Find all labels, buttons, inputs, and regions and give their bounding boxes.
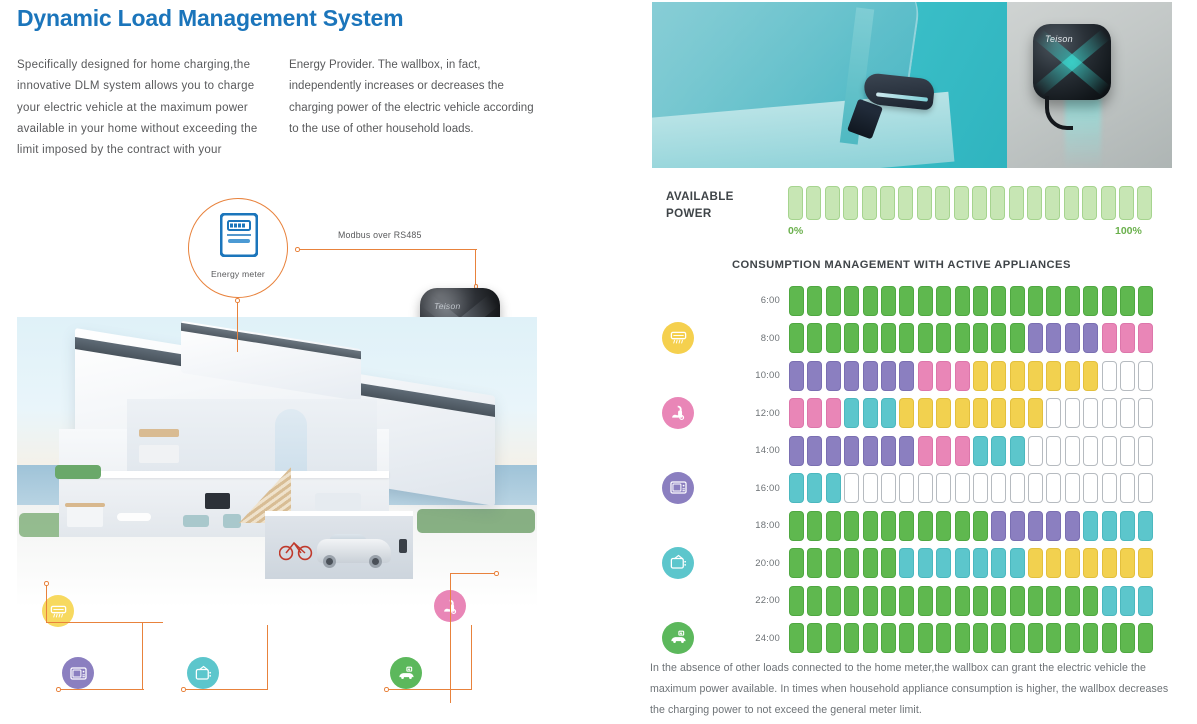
chart-cell-purple xyxy=(1065,323,1080,353)
kitchen-counter xyxy=(65,503,105,507)
chart-cell-cyan xyxy=(899,548,914,578)
chart-cell-green xyxy=(973,586,988,616)
connector-dot xyxy=(384,687,389,692)
chart-cell-green xyxy=(1046,586,1061,616)
chart-cell-green xyxy=(863,323,878,353)
chart-cell-purple xyxy=(826,361,841,391)
chart-cell-cyan xyxy=(1010,548,1025,578)
chart-cell-empty xyxy=(1138,398,1153,428)
chart-cell-empty xyxy=(1083,398,1098,428)
chart-cell-cyan xyxy=(863,398,878,428)
chart-cell-purple xyxy=(1010,511,1025,541)
system-diagram: Energy meter Modbus over RS485 Teison xyxy=(0,185,640,724)
connector-dot xyxy=(56,687,61,692)
chart-row: 6:00 xyxy=(648,282,1197,320)
chart-row-cells xyxy=(789,398,1153,428)
chart-cell-green xyxy=(826,548,841,578)
chart-cell-empty xyxy=(899,473,914,503)
chart-cell-green xyxy=(807,286,822,316)
chart-cell-green xyxy=(973,623,988,653)
available-power-segment xyxy=(1101,186,1116,220)
available-power-label-line2: POWER xyxy=(666,206,734,223)
chart-cell-green xyxy=(973,511,988,541)
chart-cell-green xyxy=(936,511,951,541)
available-power-segment xyxy=(825,186,840,220)
chart-cell-pink xyxy=(936,361,951,391)
chart-cell-green xyxy=(826,286,841,316)
chart-cell-cyan xyxy=(1120,586,1135,616)
connector-line xyxy=(183,689,268,690)
chart-cell-yellow xyxy=(1065,548,1080,578)
chart-cell-yellow xyxy=(1010,361,1025,391)
chart-cell-empty xyxy=(1102,361,1117,391)
roof-planter xyxy=(55,465,101,479)
available-power-segment xyxy=(1027,186,1042,220)
chart-cell-green xyxy=(844,548,859,578)
chart-cell-cyan xyxy=(1102,586,1117,616)
modbus-connection-label: Modbus over RS485 xyxy=(338,230,422,240)
connector-dot xyxy=(235,298,240,303)
legend-badge-electric-vehicle[interactable] xyxy=(662,622,694,654)
chart-cell-green xyxy=(844,623,859,653)
chart-row-time-label: 14:00 xyxy=(720,445,780,456)
chart-cell-empty xyxy=(1102,398,1117,428)
chart-cell-green xyxy=(1102,623,1117,653)
chart-cell-green xyxy=(789,623,804,653)
available-power-segment xyxy=(1137,186,1152,220)
chart-cell-green xyxy=(973,286,988,316)
chart-cell-empty xyxy=(863,473,878,503)
garage-wallbox xyxy=(399,539,407,553)
energy-meter-icon xyxy=(220,213,258,257)
chart-cell-green xyxy=(789,323,804,353)
chart-cell-empty xyxy=(1083,473,1098,503)
chart-cell-green xyxy=(1138,286,1153,316)
chart-cell-green xyxy=(826,623,841,653)
chart-cell-yellow xyxy=(955,398,970,428)
air-conditioner-icon xyxy=(49,602,68,621)
chart-cell-empty xyxy=(1065,398,1080,428)
badge-microwave-oven[interactable] xyxy=(62,657,94,689)
chart-cell-pink xyxy=(918,436,933,466)
chart-row-cells xyxy=(789,586,1153,616)
chart-cell-green xyxy=(1010,623,1025,653)
chart-cell-green xyxy=(844,586,859,616)
available-power-segment xyxy=(1045,186,1060,220)
chart-cell-green xyxy=(881,548,896,578)
chart-cell-pink xyxy=(1138,323,1153,353)
chart-row-cells xyxy=(789,323,1153,353)
chart-cell-empty xyxy=(918,473,933,503)
modbus-connector-line xyxy=(297,249,477,250)
chart-cell-cyan xyxy=(826,473,841,503)
chart-cell-yellow xyxy=(1083,361,1098,391)
dining-table xyxy=(117,513,151,521)
chart-cell-cyan xyxy=(1010,436,1025,466)
chart-row-cells xyxy=(789,436,1153,466)
sofa xyxy=(183,515,209,527)
chart-cell-yellow xyxy=(1028,361,1043,391)
legend-badge-television[interactable] xyxy=(662,547,694,579)
chart-cell-green xyxy=(991,623,1006,653)
chart-cell-green xyxy=(1010,286,1025,316)
wallbox-brand-label: Teison xyxy=(1045,34,1073,44)
chart-cell-purple xyxy=(991,511,1006,541)
chart-cell-green xyxy=(1065,623,1080,653)
chart-cell-green xyxy=(863,586,878,616)
connector-line xyxy=(142,622,143,690)
badge-television[interactable] xyxy=(187,657,219,689)
chart-cell-purple xyxy=(1028,323,1043,353)
chart-cell-pink xyxy=(936,436,951,466)
chart-cell-empty xyxy=(1065,473,1080,503)
chart-cell-cyan xyxy=(973,548,988,578)
chart-row-time-label: 8:00 xyxy=(720,333,780,344)
chart-cell-green xyxy=(936,323,951,353)
chart-cell-pink xyxy=(826,398,841,428)
chart-cell-pink xyxy=(918,361,933,391)
chart-cell-green xyxy=(918,286,933,316)
connector-line xyxy=(386,689,472,690)
chart-cell-green xyxy=(936,586,951,616)
available-power-label-line1: AVAILABLE xyxy=(666,189,734,206)
consumption-chart: 6:008:0010:0012:0014:0016:0018:0020:0022… xyxy=(648,282,1197,657)
available-power-max-label: 100% xyxy=(1115,225,1142,237)
chart-cell-green xyxy=(973,323,988,353)
chart-row-cells xyxy=(789,361,1153,391)
chart-cell-empty xyxy=(1028,436,1043,466)
chart-cell-purple xyxy=(1083,323,1098,353)
available-power-segment xyxy=(806,186,821,220)
chart-row: 24:00 xyxy=(648,620,1197,658)
chart-cell-purple xyxy=(881,361,896,391)
available-power-segment xyxy=(1064,186,1079,220)
chart-cell-yellow xyxy=(1120,548,1135,578)
charging-cable xyxy=(1045,96,1073,130)
electric-car-icon xyxy=(397,664,416,683)
chart-cell-cyan xyxy=(1083,511,1098,541)
available-power-segment xyxy=(1119,186,1134,220)
chart-cell-green xyxy=(807,623,822,653)
intro-paragraph-left: Specifically designed for home charging,… xyxy=(17,55,279,161)
chart-cell-purple xyxy=(844,361,859,391)
connector-line xyxy=(58,689,144,690)
chart-cell-green xyxy=(991,286,1006,316)
connector-line xyxy=(237,300,238,352)
chart-cell-green xyxy=(955,586,970,616)
chart-cell-purple xyxy=(1065,511,1080,541)
badge-electric-vehicle[interactable] xyxy=(390,657,422,689)
chart-cell-green xyxy=(899,623,914,653)
chart-cell-green xyxy=(1010,586,1025,616)
chart-cell-green xyxy=(1102,286,1117,316)
modbus-connector-line-vertical xyxy=(475,249,476,287)
chart-row: 20:00 xyxy=(648,545,1197,583)
available-power-segment xyxy=(862,186,877,220)
chart-row-time-label: 10:00 xyxy=(720,370,780,381)
chart-cell-empty xyxy=(1065,436,1080,466)
chart-cell-pink xyxy=(807,398,822,428)
available-power-min-label: 0% xyxy=(788,225,803,237)
chart-cell-cyan xyxy=(955,548,970,578)
chart-cell-empty xyxy=(1046,473,1061,503)
chart-row: 12:00 xyxy=(648,395,1197,433)
chart-cell-empty xyxy=(936,473,951,503)
chart-row-time-label: 22:00 xyxy=(720,595,780,606)
chart-row-cells xyxy=(789,548,1153,578)
chart-cell-yellow xyxy=(1102,548,1117,578)
chart-cell-cyan xyxy=(918,548,933,578)
chart-cell-yellow xyxy=(936,398,951,428)
chart-cell-green xyxy=(955,623,970,653)
connector-line xyxy=(450,573,496,574)
bunk-bed-frame xyxy=(139,429,179,437)
connector-dot xyxy=(295,247,300,252)
chart-cell-green xyxy=(918,323,933,353)
chart-cell-green xyxy=(1028,586,1043,616)
available-power-segment xyxy=(935,186,950,220)
chart-cell-green xyxy=(1083,286,1098,316)
chart-row-cells xyxy=(789,511,1153,541)
chart-row-time-label: 12:00 xyxy=(720,408,780,419)
chart-cell-green xyxy=(1065,586,1080,616)
chart-cell-green xyxy=(863,548,878,578)
kitchen-cabinets xyxy=(67,505,103,527)
chart-cell-cyan xyxy=(1102,511,1117,541)
car-wheel xyxy=(369,555,382,568)
chart-cell-green xyxy=(1046,623,1061,653)
chart-cell-empty xyxy=(1102,436,1117,466)
chart-cell-green xyxy=(918,511,933,541)
legend-badge-vacuum-cleaner[interactable] xyxy=(662,397,694,429)
chart-cell-empty xyxy=(973,473,988,503)
chart-cell-purple xyxy=(899,361,914,391)
chart-cell-purple xyxy=(789,436,804,466)
chart-cell-empty xyxy=(1046,436,1061,466)
chart-cell-yellow xyxy=(991,398,1006,428)
chart-cell-green xyxy=(789,286,804,316)
chart-cell-purple xyxy=(1028,511,1043,541)
chart-cell-pink xyxy=(789,398,804,428)
chart-cell-empty xyxy=(1120,436,1135,466)
chart-cell-purple xyxy=(844,436,859,466)
bed-right xyxy=(315,493,361,511)
air-conditioner-icon xyxy=(669,328,688,347)
footer-note: In the absence of other loads connected … xyxy=(650,658,1175,721)
chart-cell-green xyxy=(844,323,859,353)
chart-row-cells xyxy=(789,623,1153,653)
chart-cell-green xyxy=(1120,286,1135,316)
chart-row-time-label: 20:00 xyxy=(720,558,780,569)
chart-row: 8:00 xyxy=(648,320,1197,358)
chart-cell-green xyxy=(899,286,914,316)
chart-row: 10:00 xyxy=(648,357,1197,395)
chart-cell-cyan xyxy=(1138,511,1153,541)
page-root: Dynamic Load Management System Specifica… xyxy=(0,0,1197,724)
chart-cell-empty xyxy=(1046,398,1061,428)
chart-row-time-label: 24:00 xyxy=(720,633,780,644)
available-power-segment xyxy=(917,186,932,220)
chart-cell-empty xyxy=(1120,473,1135,503)
hero-photo: Teison xyxy=(652,2,1172,168)
chart-cell-yellow xyxy=(973,361,988,391)
chart-cell-purple xyxy=(863,361,878,391)
bicycle xyxy=(279,537,313,561)
available-power-segment xyxy=(1082,186,1097,220)
house-cutaway-illustration xyxy=(17,317,537,607)
chart-cell-empty xyxy=(1102,473,1117,503)
chart-cell-green xyxy=(955,511,970,541)
chart-cell-green xyxy=(881,323,896,353)
connector-line xyxy=(471,625,472,690)
chart-cell-purple xyxy=(789,361,804,391)
available-power-segment xyxy=(843,186,858,220)
wallbox-device-photo: Teison xyxy=(1033,24,1111,100)
bed-upper xyxy=(139,445,179,463)
chart-cell-green xyxy=(1120,623,1135,653)
microwave-oven-icon xyxy=(69,664,88,683)
microwave-oven-icon xyxy=(669,478,688,497)
chart-cell-green xyxy=(936,623,951,653)
television-icon xyxy=(669,553,688,572)
chart-cell-cyan xyxy=(1120,511,1135,541)
chart-cell-green xyxy=(789,511,804,541)
chart-cell-green xyxy=(991,323,1006,353)
chart-cell-green xyxy=(789,586,804,616)
right-column: Teison AVAILABLE POWER 0% 100% CONSUMPTI… xyxy=(648,0,1197,724)
chart-row: 22:00 xyxy=(648,582,1197,620)
chart-cell-green xyxy=(1028,286,1043,316)
chart-cell-purple xyxy=(807,361,822,391)
chart-cell-cyan xyxy=(936,548,951,578)
chart-cell-green xyxy=(807,323,822,353)
chart-cell-cyan xyxy=(844,398,859,428)
chart-title: CONSUMPTION MANAGEMENT WITH ACTIVE APPLI… xyxy=(732,259,1071,271)
legend-badge-air-conditioner[interactable] xyxy=(662,322,694,354)
vacuum-cleaner-icon xyxy=(669,403,688,422)
chart-cell-empty xyxy=(1138,436,1153,466)
chart-row-time-label: 16:00 xyxy=(720,483,780,494)
chart-cell-green xyxy=(1010,323,1025,353)
chart-cell-yellow xyxy=(1083,548,1098,578)
available-power-bar xyxy=(788,186,1152,220)
available-power-segment xyxy=(898,186,913,220)
chart-row-time-label: 6:00 xyxy=(720,295,780,306)
chart-cell-green xyxy=(899,586,914,616)
connector-line xyxy=(267,625,268,690)
chart-cell-yellow xyxy=(1028,548,1043,578)
hedge xyxy=(417,509,535,533)
chart-cell-yellow xyxy=(1065,361,1080,391)
car-wheel xyxy=(323,555,336,568)
chart-cell-green xyxy=(844,286,859,316)
chart-row: 16:00 xyxy=(648,470,1197,508)
chart-cell-green xyxy=(844,511,859,541)
chart-cell-empty xyxy=(1120,398,1135,428)
chart-cell-purple xyxy=(807,436,822,466)
chart-cell-yellow xyxy=(1028,398,1043,428)
available-power-segment xyxy=(880,186,895,220)
chart-cell-green xyxy=(863,286,878,316)
chart-cell-green xyxy=(863,623,878,653)
chart-row-time-label: 18:00 xyxy=(720,520,780,531)
chart-cell-green xyxy=(918,586,933,616)
left-column: Dynamic Load Management System Specifica… xyxy=(0,0,640,724)
connector-line xyxy=(450,573,451,703)
chart-cell-purple xyxy=(899,436,914,466)
chart-cell-cyan xyxy=(991,436,1006,466)
energy-meter-label: Energy meter xyxy=(188,269,288,279)
living-room-tv xyxy=(205,493,230,509)
chart-cell-green xyxy=(955,323,970,353)
chart-cell-pink xyxy=(1120,323,1135,353)
available-power-segment xyxy=(972,186,987,220)
chart-cell-purple xyxy=(863,436,878,466)
electric-vehicle-icon xyxy=(669,628,688,647)
chart-cell-purple xyxy=(1046,323,1061,353)
chart-cell-green xyxy=(918,623,933,653)
connector-line xyxy=(46,583,47,623)
chart-cell-green xyxy=(899,511,914,541)
intro-paragraph-right: Energy Provider. The wallbox, in fact, i… xyxy=(289,55,545,140)
chart-row-cells xyxy=(789,473,1153,503)
television-icon xyxy=(194,664,213,683)
available-power-segment xyxy=(1009,186,1024,220)
chart-cell-green xyxy=(826,586,841,616)
chart-cell-cyan xyxy=(973,436,988,466)
chart-cell-empty xyxy=(1138,361,1153,391)
chart-cell-green xyxy=(881,623,896,653)
chart-cell-empty xyxy=(881,473,896,503)
chart-cell-yellow xyxy=(1046,361,1061,391)
chart-cell-yellow xyxy=(973,398,988,428)
arched-window xyxy=(275,409,307,471)
chart-cell-pink xyxy=(955,436,970,466)
chart-cell-green xyxy=(1065,286,1080,316)
chart-cell-empty xyxy=(991,473,1006,503)
chart-cell-pink xyxy=(1102,323,1117,353)
connector-dot xyxy=(181,687,186,692)
available-power-segment xyxy=(954,186,969,220)
chart-cell-green xyxy=(789,548,804,578)
chart-cell-green xyxy=(991,586,1006,616)
available-power-segment xyxy=(990,186,1005,220)
chart-cell-cyan xyxy=(881,398,896,428)
connector-dot xyxy=(44,581,49,586)
chart-cell-green xyxy=(1028,623,1043,653)
available-power-label: AVAILABLE POWER xyxy=(666,189,734,222)
chart-cell-green xyxy=(1083,623,1098,653)
wallbox-brand-label: Teison xyxy=(434,301,461,311)
legend-badge-microwave-oven[interactable] xyxy=(662,472,694,504)
chart-row: 18:00 xyxy=(648,507,1197,545)
connector-dot xyxy=(494,571,499,576)
available-power-segment xyxy=(788,186,803,220)
chart-cell-green xyxy=(881,586,896,616)
chart-cell-green xyxy=(826,511,841,541)
chart-cell-empty xyxy=(1083,436,1098,466)
chart-cell-cyan xyxy=(807,473,822,503)
chart-cell-green xyxy=(863,511,878,541)
chart-cell-purple xyxy=(826,436,841,466)
chart-cell-green xyxy=(807,548,822,578)
chart-cell-green xyxy=(899,323,914,353)
chart-cell-green xyxy=(936,286,951,316)
armchair xyxy=(223,514,241,528)
page-title: Dynamic Load Management System xyxy=(17,5,403,32)
chart-cell-yellow xyxy=(991,361,1006,391)
chart-row-cells xyxy=(789,286,1153,316)
